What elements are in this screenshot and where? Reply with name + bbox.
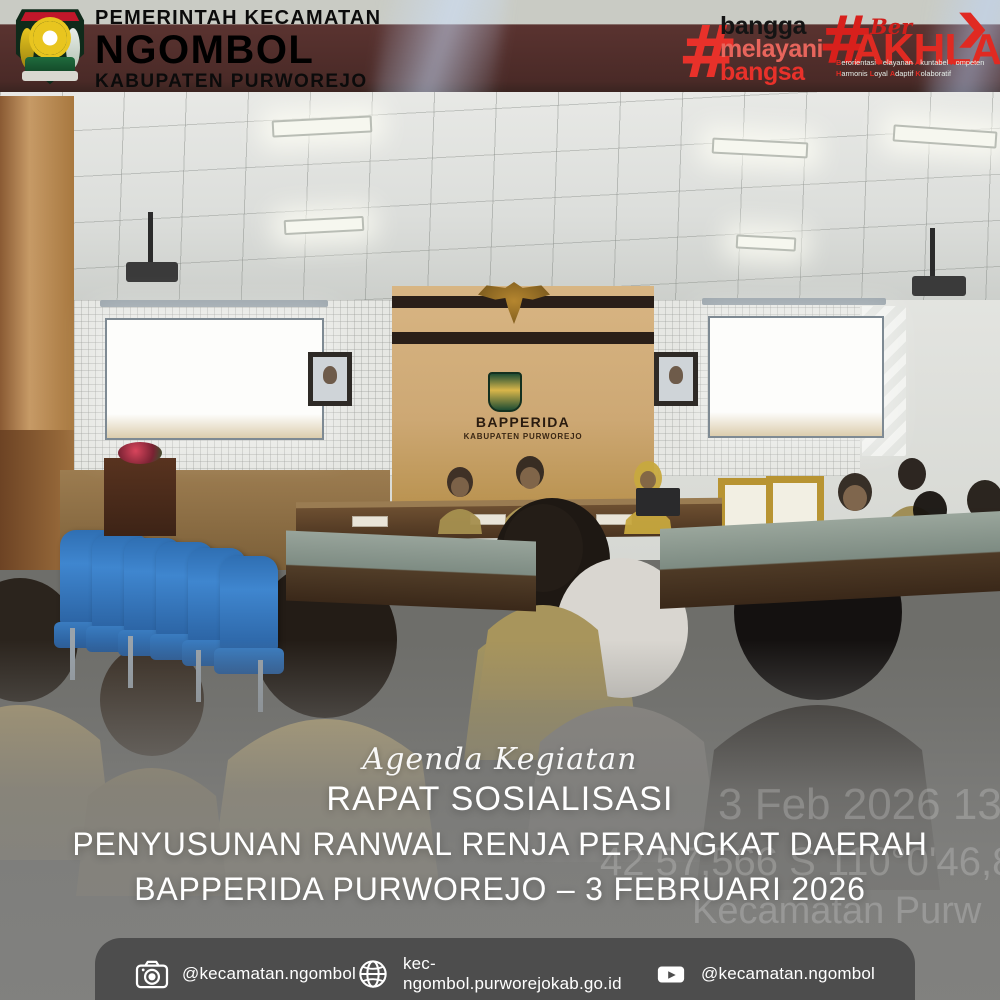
youtube-play-icon	[654, 959, 688, 989]
header-light-streak	[371, 0, 509, 92]
wooden-cabinet	[104, 458, 176, 536]
conference-table-left	[286, 531, 536, 612]
poster-canvas: BAPPERIDA KABUPATEN PURWOREJO	[0, 0, 1000, 1000]
footer-label-instagram: @kecamatan.ngombol	[182, 964, 356, 984]
laptop	[636, 488, 680, 516]
footer-label-website: kec-ngombol.purworejokab.go.id	[403, 954, 654, 994]
chevron-right-icon: ❯	[954, 8, 991, 48]
footer-label-youtube: @kecamatan.ngombol	[701, 964, 875, 984]
instagram-camera-icon	[135, 959, 169, 989]
header-bar: PEMERINTAH KECAMATAN NGOMBOL KABUPATEN P…	[0, 0, 1000, 92]
purworejo-regency-crest-icon	[13, 6, 87, 86]
bangga-word-3: bangsa	[720, 60, 805, 85]
akhlak-values: Berorientasi Pelayanan Akuntabel Kompete…	[836, 58, 984, 79]
social-footer-bar: @kecamatan.ngombol kec-ngombol.purworejo…	[95, 938, 915, 1000]
event-title: RAPAT SOSIALISASI	[0, 780, 1000, 819]
flower-arrangement	[118, 442, 162, 464]
speaker-female	[438, 467, 482, 534]
header-line-2: NGOMBOL	[95, 30, 381, 71]
event-subtitle-line-2: BAPPERIDA PURWOREJO – 3 FEBRUARI 2026	[0, 871, 1000, 908]
footer-item-youtube[interactable]: @kecamatan.ngombol	[654, 959, 875, 989]
header-titles: PEMERINTAH KECAMATAN NGOMBOL KABUPATEN P…	[95, 8, 381, 91]
event-subtitle-line-1: PENYUSUNAN RANWAL RENJA PERANGKAT DAERAH	[0, 826, 1000, 863]
crest-ribbon	[22, 71, 78, 81]
footer-item-website[interactable]: kec-ngombol.purworejokab.go.id	[356, 954, 654, 994]
akhlak-values-line-1: Berorientasi Pelayanan Akuntabel Kompete…	[836, 58, 984, 69]
globe-website-icon	[356, 959, 390, 989]
header-line-3: KABUPATEN PURWOREJO	[95, 72, 381, 91]
crest-center-star	[33, 21, 67, 55]
header-line-1: PEMERINTAH KECAMATAN	[95, 8, 381, 28]
agenda-eyebrow: Agenda Kegiatan	[0, 742, 1000, 777]
bangga-melayani-bangsa-logo: # bangga melayani bangsa	[678, 6, 838, 86]
footer-item-instagram[interactable]: @kecamatan.ngombol	[135, 959, 356, 989]
stacking-chair	[220, 556, 278, 652]
akhlak-values-line-2: Harmonis Loyal Adaptif Kolaboratif	[836, 69, 984, 80]
berakhlak-logo: # Ber AKHLAK ❯ Berorientasi Pelayanan Ak…	[818, 2, 998, 90]
